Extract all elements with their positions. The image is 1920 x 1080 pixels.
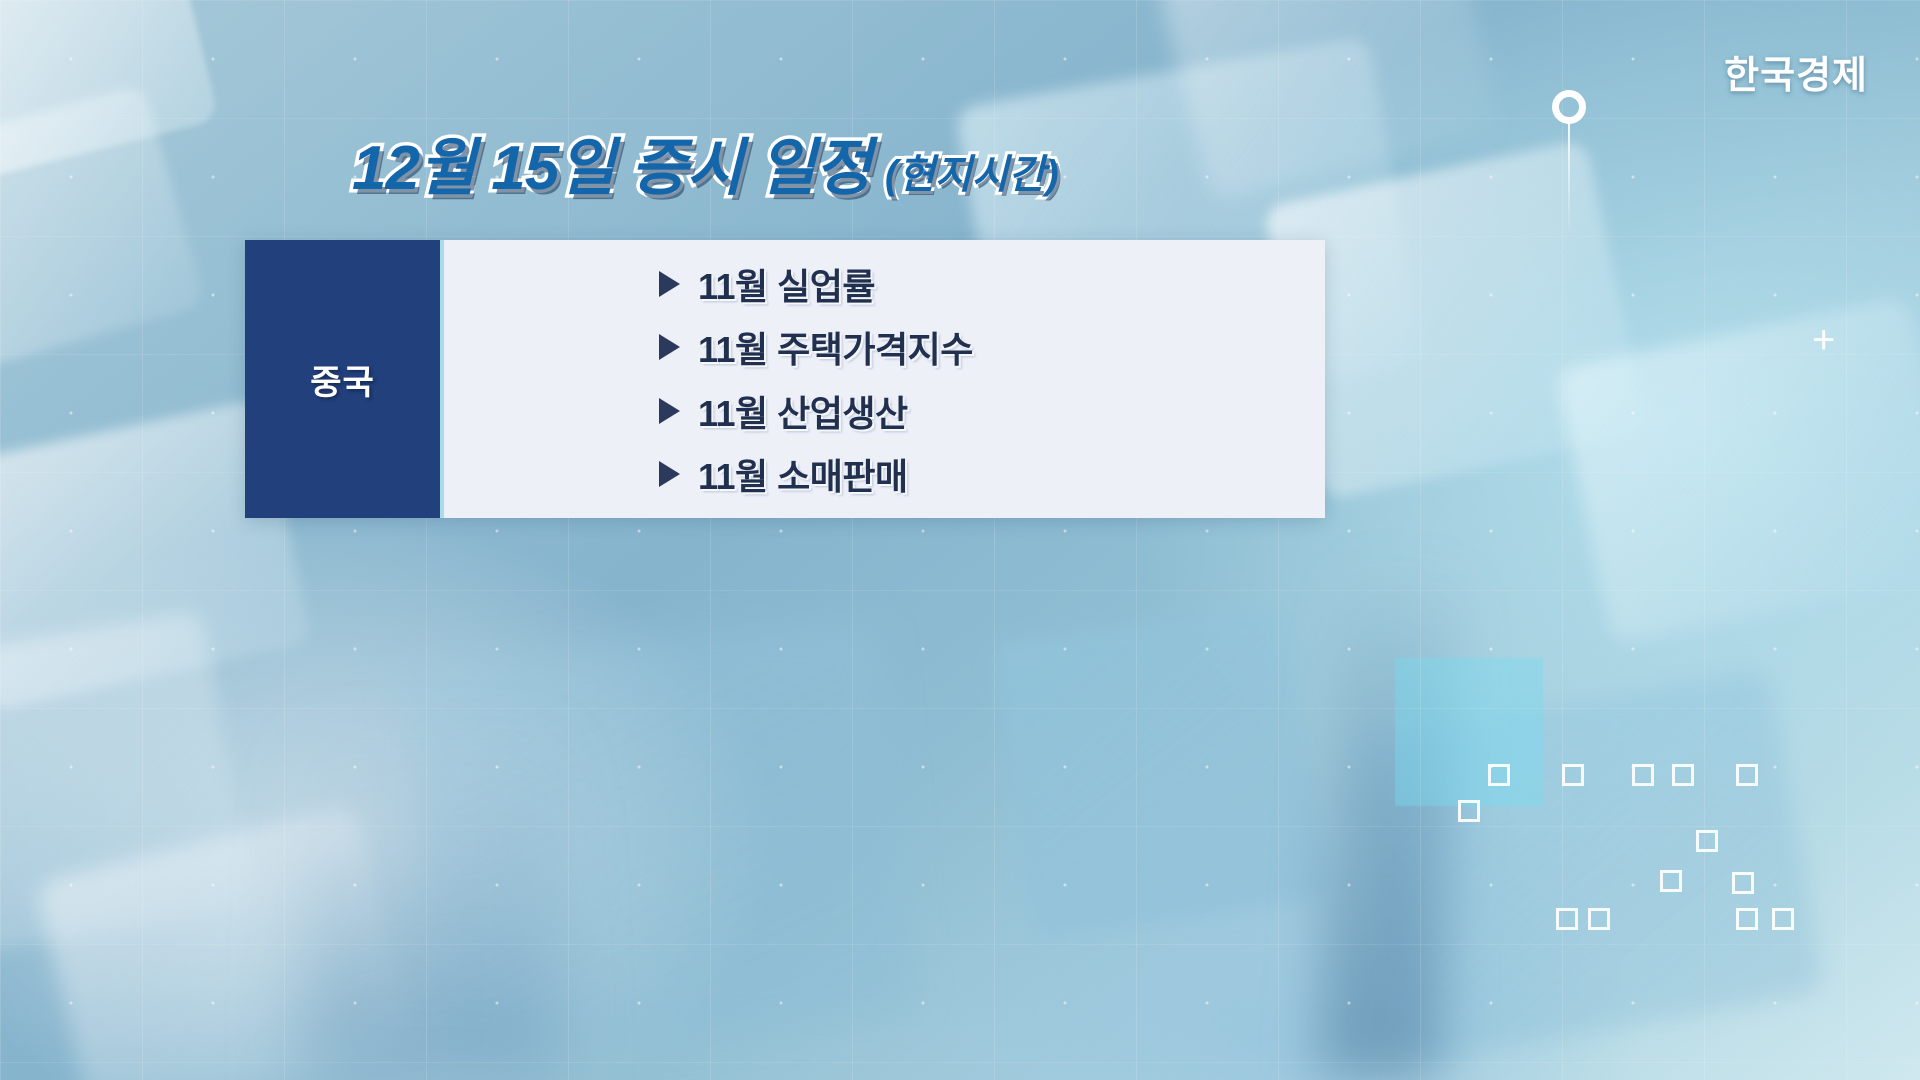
list-item: 11월 주택가격지수 xyxy=(659,321,1325,373)
decor-square xyxy=(1732,872,1754,894)
category-cell: 중국 xyxy=(245,240,440,518)
list-item-label: 11월 산업생산 xyxy=(698,385,908,437)
decor-square xyxy=(1632,764,1654,786)
decor-square xyxy=(1488,764,1510,786)
decor-square xyxy=(1660,870,1682,892)
schedule-table: 중국 11월 실업률 11월 주택가격지수 11월 산업생산 11월 소매판매 xyxy=(245,240,1325,518)
decor-square xyxy=(1736,764,1758,786)
decor-square xyxy=(1736,908,1758,930)
list-item: 11월 소매판매 xyxy=(659,448,1325,500)
triangle-right-icon xyxy=(659,334,680,360)
decor-square xyxy=(1458,800,1480,822)
title-main: 12월 15일 증시 일정 xyxy=(352,138,871,200)
list-item-label: 11월 주택가격지수 xyxy=(698,321,973,373)
category-label: 중국 xyxy=(310,355,375,404)
circle-outline-icon xyxy=(1552,90,1586,124)
list-item-label: 11월 실업률 xyxy=(698,258,875,310)
decor-square xyxy=(1556,908,1578,930)
title-sub: (현지시간) xyxy=(885,155,1059,200)
decor-square xyxy=(1588,908,1610,930)
decor-square xyxy=(1696,830,1718,852)
list-item: 11월 산업생산 xyxy=(659,385,1325,437)
list-item-label: 11월 소매판매 xyxy=(698,448,908,500)
decor-square xyxy=(1772,908,1794,930)
decor-square xyxy=(1672,764,1694,786)
decor-square xyxy=(1562,764,1584,786)
channel-logo: 한국경제 xyxy=(1724,44,1868,99)
triangle-right-icon xyxy=(659,461,680,487)
schedule-item-list: 11월 실업률 11월 주택가격지수 11월 산업생산 11월 소매판매 xyxy=(440,240,1325,518)
list-item: 11월 실업률 xyxy=(659,258,1325,310)
decor-plus-icon: + xyxy=(1812,320,1835,360)
triangle-right-icon xyxy=(659,271,680,297)
decor-line xyxy=(1568,124,1570,236)
triangle-right-icon xyxy=(659,398,680,424)
page-title: 12월 15일 증시 일정 (현지시간) xyxy=(352,138,1059,200)
